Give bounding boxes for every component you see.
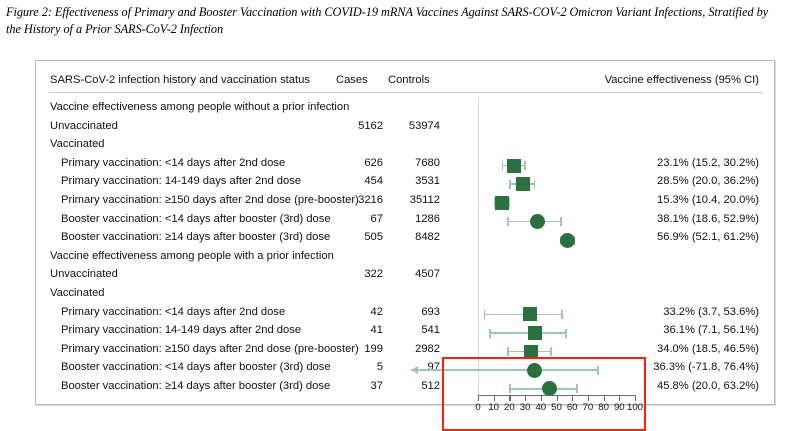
row-cases: 505 bbox=[336, 231, 383, 244]
estimate-marker-circle bbox=[527, 363, 542, 378]
table-row: Booster vaccination: <14 days after boos… bbox=[36, 213, 774, 232]
table-row: Primary vaccination: 14-149 days after 2… bbox=[36, 324, 774, 343]
row-label: Unvaccinated bbox=[50, 268, 118, 281]
ci-upper-cap bbox=[550, 347, 552, 356]
estimate-marker-circle bbox=[560, 233, 575, 248]
row-label: Vaccinated bbox=[50, 138, 105, 151]
row-label: Primary vaccination: 14-149 days after 2… bbox=[61, 324, 301, 337]
ci-lower-cap bbox=[484, 310, 486, 319]
x-axis-tick-label: 100 bbox=[627, 402, 643, 413]
table-row: Booster vaccination: ≥14 days after boos… bbox=[36, 380, 774, 399]
row-label: Booster vaccination: <14 days after boos… bbox=[61, 213, 331, 226]
x-axis-tick bbox=[494, 395, 495, 401]
table-row: Primary vaccination: <14 days after 2nd … bbox=[36, 157, 774, 176]
row-controls: 53974 bbox=[386, 120, 440, 133]
x-axis-tick bbox=[604, 395, 605, 401]
ci-lower-cap bbox=[509, 180, 511, 189]
estimate-marker-square bbox=[523, 307, 537, 321]
row-controls: 35112 bbox=[386, 194, 440, 207]
row-cases: 199 bbox=[336, 343, 383, 356]
table-row: Unvaccinated516253974 bbox=[36, 120, 774, 139]
row-label: Primary vaccination: 14-149 days after 2… bbox=[61, 175, 301, 188]
ci-lower-cap bbox=[509, 384, 511, 393]
col-header-controls: Controls bbox=[388, 74, 458, 87]
ci-upper-cap bbox=[565, 329, 567, 338]
x-axis-tick bbox=[541, 395, 542, 401]
x-axis-tick bbox=[509, 395, 510, 401]
table-row: Primary vaccination: 14-149 days after 2… bbox=[36, 175, 774, 194]
confidence-interval-line bbox=[411, 369, 598, 371]
ci-upper-cap bbox=[560, 217, 562, 226]
row-controls: 4507 bbox=[386, 268, 440, 281]
table-row: Booster vaccination: <14 days after boos… bbox=[36, 361, 774, 380]
x-axis-tick-label: 80 bbox=[598, 402, 609, 413]
row-label: Vaccinated bbox=[50, 287, 105, 300]
row-cases: 454 bbox=[336, 175, 383, 188]
section-title: Vaccine effectiveness among people with … bbox=[50, 250, 334, 263]
row-controls: 512 bbox=[386, 380, 440, 393]
ci-lower-cap bbox=[507, 217, 509, 226]
ci-left-arrow-icon bbox=[411, 366, 418, 374]
estimate-marker-square bbox=[516, 177, 530, 191]
estimate-marker-circle bbox=[530, 214, 545, 229]
row-label: Booster vaccination: ≥14 days after boos… bbox=[61, 231, 330, 244]
x-axis-tick-label: 50 bbox=[551, 402, 562, 413]
row-controls: 8482 bbox=[386, 231, 440, 244]
row-label: Unvaccinated bbox=[50, 120, 118, 133]
header-divider bbox=[49, 92, 763, 93]
col-header-ve: Vaccine effectiveness (95% CI) bbox=[516, 74, 759, 87]
x-axis-tick bbox=[525, 395, 526, 401]
row-cases: 41 bbox=[336, 324, 383, 337]
x-axis-tick-label: 60 bbox=[567, 402, 578, 413]
table-row: Vaccinated bbox=[36, 287, 774, 306]
ci-upper-cap bbox=[534, 180, 536, 189]
row-cases: 626 bbox=[336, 157, 383, 170]
table-row: Booster vaccination: ≥14 days after boos… bbox=[36, 231, 774, 250]
row-controls: 2982 bbox=[386, 343, 440, 356]
row-label: Primary vaccination: ≥150 days after 2nd… bbox=[61, 194, 359, 207]
x-axis-tick-label: 40 bbox=[535, 402, 546, 413]
row-cases: 37 bbox=[336, 380, 383, 393]
table-row: Primary vaccination: ≥150 days after 2nd… bbox=[36, 343, 774, 362]
x-axis-tick-label: 20 bbox=[504, 402, 515, 413]
estimate-marker-square bbox=[528, 326, 542, 340]
row-label: Primary vaccination: <14 days after 2nd … bbox=[61, 157, 285, 170]
table-row: Unvaccinated3224507 bbox=[36, 268, 774, 287]
figure-caption: Figure 2: Effectiveness of Primary and B… bbox=[6, 4, 786, 37]
row-controls: 541 bbox=[386, 324, 440, 337]
row-cases: 5 bbox=[336, 361, 383, 374]
table-row: Primary vaccination: ≥150 days after 2nd… bbox=[36, 194, 774, 213]
forest-plot bbox=[444, 97, 644, 402]
x-axis-tick bbox=[619, 395, 620, 401]
ci-upper-cap bbox=[524, 161, 526, 170]
table-row: Primary vaccination: <14 days after 2nd … bbox=[36, 306, 774, 325]
ci-lower-cap bbox=[502, 161, 504, 170]
row-controls: 7680 bbox=[386, 157, 440, 170]
x-axis-tick-label: 0 bbox=[475, 402, 480, 413]
col-header-label: SARS-CoV-2 infection history and vaccina… bbox=[50, 74, 310, 87]
zero-reference-line bbox=[478, 97, 479, 395]
estimate-marker-square bbox=[495, 196, 509, 210]
x-axis-tick-label: 70 bbox=[583, 402, 594, 413]
x-axis-tick-label: 90 bbox=[614, 402, 625, 413]
results-table: SARS-CoV-2 infection history and vaccina… bbox=[36, 61, 774, 404]
section-title-row: Vaccine effectiveness among people with … bbox=[36, 250, 774, 269]
row-cases: 3216 bbox=[336, 194, 383, 207]
x-axis-tick bbox=[557, 395, 558, 401]
x-axis-tick bbox=[478, 395, 479, 401]
row-controls: 1286 bbox=[386, 213, 440, 226]
ci-lower-cap bbox=[507, 347, 509, 356]
x-axis: 0102030405060708090100 bbox=[444, 395, 644, 421]
x-axis-tick bbox=[572, 395, 573, 401]
row-cases: 42 bbox=[336, 306, 383, 319]
figure-frame: SARS-CoV-2 infection history and vaccina… bbox=[35, 60, 775, 405]
row-label: Primary vaccination: <14 days after 2nd … bbox=[61, 306, 285, 319]
row-controls: 3531 bbox=[386, 175, 440, 188]
estimate-marker-square bbox=[507, 159, 521, 173]
row-controls: 693 bbox=[386, 306, 440, 319]
ci-lower-cap bbox=[489, 329, 491, 338]
x-axis-tick-label: 30 bbox=[520, 402, 531, 413]
col-header-cases: Cases bbox=[336, 74, 396, 87]
x-axis-tick-label: 10 bbox=[488, 402, 499, 413]
row-cases: 322 bbox=[336, 268, 383, 281]
row-label: Booster vaccination: <14 days after boos… bbox=[61, 361, 331, 374]
row-cases: 67 bbox=[336, 213, 383, 226]
ci-upper-cap bbox=[576, 384, 578, 393]
row-cases: 5162 bbox=[336, 120, 383, 133]
x-axis-tick bbox=[635, 395, 636, 401]
estimate-marker-square bbox=[524, 345, 538, 359]
ci-upper-cap bbox=[597, 366, 599, 375]
x-axis-tick bbox=[588, 395, 589, 401]
ci-upper-cap bbox=[561, 310, 563, 319]
row-label: Primary vaccination: ≥150 days after 2nd… bbox=[61, 343, 359, 356]
section-title-row: Vaccine effectiveness among people witho… bbox=[36, 101, 774, 120]
row-label: Booster vaccination: ≥14 days after boos… bbox=[61, 380, 330, 393]
section-title: Vaccine effectiveness among people witho… bbox=[50, 101, 349, 114]
table-row: Vaccinated bbox=[36, 138, 774, 157]
